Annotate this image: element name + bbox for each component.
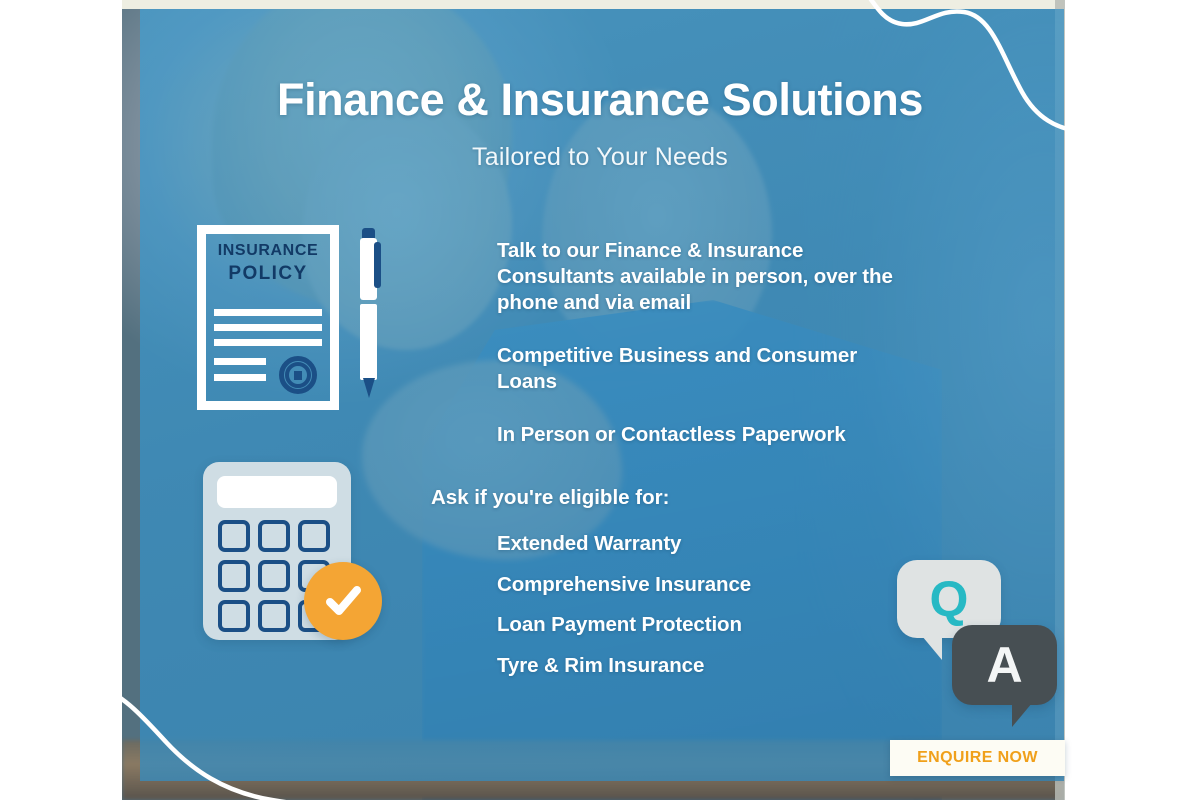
calculator-key [258,600,290,632]
poster-canvas: Finance & Insurance Solutions Tailored t… [0,0,1200,800]
policy-signature-lines [214,358,266,390]
calculator-key [218,600,250,632]
policy-text-line [214,309,322,316]
policy-seal-core [294,371,302,380]
enquire-now-button[interactable]: ENQUIRE NOW [890,740,1065,776]
policy-seal-stamp-icon [279,356,317,394]
policy-heading-line-1: INSURANCE [197,241,339,262]
policy-heading-line-2: POLICY [197,262,339,287]
enquire-now-label: ENQUIRE NOW [917,749,1038,767]
calculator-key [218,520,250,552]
policy-signature-line [214,374,266,381]
question-letter: Q [930,574,969,624]
policy-signature-line [214,358,266,365]
insurance-policy-document-icon: INSURANCE POLICY [197,225,339,410]
policy-text-line [214,324,322,331]
calculator-key [258,560,290,592]
policy-text-lines [214,309,322,354]
checkmark-badge-icon [304,562,382,640]
calculator-key [258,520,290,552]
copy-paragraph-loans: Competitive Business and Consumer Loans [497,343,917,395]
list-item: Loan Payment Protection [497,615,751,636]
eligibility-list: Extended Warranty Comprehensive Insuranc… [497,534,751,696]
qa-speech-bubbles-icon: Q A [897,560,1057,735]
copy-paragraph-paperwork: In Person or Contactless Paperwork [497,422,917,448]
list-item: Extended Warranty [497,534,751,555]
eligibility-prompt: Ask if you're eligible for: [431,486,669,510]
pen-lower-body [360,304,377,380]
list-item: Comprehensive Insurance [497,575,751,596]
calculator-key [298,520,330,552]
policy-text-line [214,339,322,346]
check-icon [320,578,366,624]
policy-document-heading: INSURANCE POLICY [197,241,339,286]
calculator-display [217,476,337,508]
calculator-key [218,560,250,592]
list-item: Tyre & Rim Insurance [497,656,751,677]
pen-icon [357,228,383,400]
frame-margin-top [122,0,1064,9]
page-subtitle: Tailored to Your Needs [0,143,1200,172]
calculator-icon [203,462,351,640]
answer-bubble: A [952,625,1057,705]
pen-tip [363,378,375,398]
body-copy-block: Talk to our Finance & Insurance Consulta… [497,238,917,472]
page-title: Finance & Insurance Solutions [0,76,1200,123]
pen-clip [374,242,381,288]
answer-letter: A [986,640,1022,690]
copy-paragraph-consultants: Talk to our Finance & Insurance Consulta… [497,238,917,316]
